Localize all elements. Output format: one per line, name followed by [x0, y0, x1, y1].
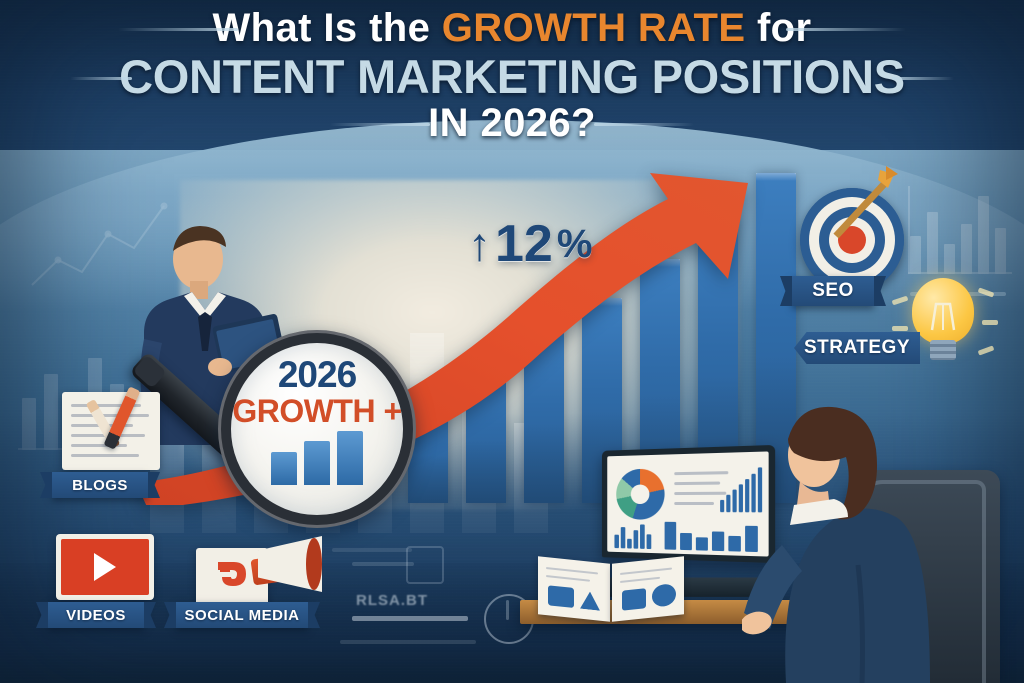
label-videos-text: VIDEOS: [66, 607, 126, 624]
magnifier-mini-bars: [267, 431, 367, 485]
label-strategy[interactable]: STRATEGY: [794, 332, 920, 364]
label-social-media-text: SOCIAL MEDIA: [185, 607, 300, 624]
ghost-bar-chart-right: [908, 182, 1016, 274]
magnifier-year: 2026: [218, 356, 416, 393]
ui-decor-box: [406, 546, 444, 584]
title-line-1: What Is the GROWTH RATE for: [0, 8, 1024, 49]
title-line-2: CONTENT MARKETING POSITIONS: [0, 53, 1024, 101]
lightbulb-icon: [912, 278, 974, 344]
title-line-3-text: IN 2026?: [428, 101, 596, 145]
video-play-icon: [56, 534, 154, 600]
title-rule-left-2: [70, 77, 132, 80]
infographic-canvas: · · · · · What Is the GROWTH RATE for CO…: [0, 0, 1024, 683]
title-rule-right-2: [892, 77, 954, 80]
title-block: What Is the GROWTH RATE for CONTENT MARK…: [0, 8, 1024, 144]
magnifying-glass-icon: 2026 GROWTH +: [218, 330, 416, 528]
bulb-filament-icon: [928, 296, 958, 336]
megaphone-mouth: [306, 538, 322, 590]
label-seo-text: SEO: [812, 280, 854, 302]
donut-chart: [616, 468, 664, 519]
book-page-right: [612, 556, 684, 622]
arrow-up-icon: ↑: [468, 221, 491, 267]
businesswoman-at-laptop: [742, 395, 957, 683]
open-book: [538, 560, 688, 626]
ui-decor-line: [352, 562, 414, 566]
title-line-3: IN 2026?: [0, 103, 1024, 144]
play-triangle-icon: [94, 553, 116, 581]
label-blogs-text: BLOGS: [72, 477, 128, 494]
ui-decor-line: [340, 640, 476, 644]
label-seo[interactable]: SEO: [792, 276, 874, 306]
background-blur-text: RLSA.BT: [356, 592, 428, 609]
clock-hand: [506, 600, 509, 620]
megaphone-icon: [252, 536, 322, 596]
label-videos[interactable]: VIDEOS: [48, 602, 144, 628]
title-prefix: What Is the: [213, 6, 431, 50]
title-rule-right-1: [786, 28, 906, 31]
video-thumbnail: [61, 539, 149, 595]
growth-stat-unit: %: [557, 224, 593, 264]
label-blogs[interactable]: BLOGS: [52, 472, 148, 498]
label-strategy-text: STRATEGY: [804, 337, 910, 359]
growth-stat-value: 12: [495, 218, 553, 270]
title-line-2-text: CONTENT MARKETING POSITIONS: [119, 50, 905, 103]
screen-mini-bars-left: [614, 523, 658, 549]
businesswoman-svg: [742, 395, 957, 683]
title-highlight: GROWTH RATE: [442, 6, 746, 50]
label-social-media[interactable]: SOCIAL MEDIA: [176, 602, 308, 628]
arrow-dart-icon: [820, 164, 910, 254]
magnifier-label: GROWTH +: [218, 393, 416, 430]
growth-stat-badge: ↑ 12 %: [468, 218, 592, 270]
ui-decor-line: [332, 548, 412, 552]
bulb-base: [930, 340, 956, 360]
title-rule-left-1: [118, 28, 238, 31]
book-page-left: [538, 556, 610, 622]
title-rule-right-3: [594, 123, 694, 126]
title-rule-left-3: [330, 123, 430, 126]
ui-decor-line: [352, 616, 468, 621]
magnifier-text: 2026 GROWTH +: [218, 356, 416, 430]
